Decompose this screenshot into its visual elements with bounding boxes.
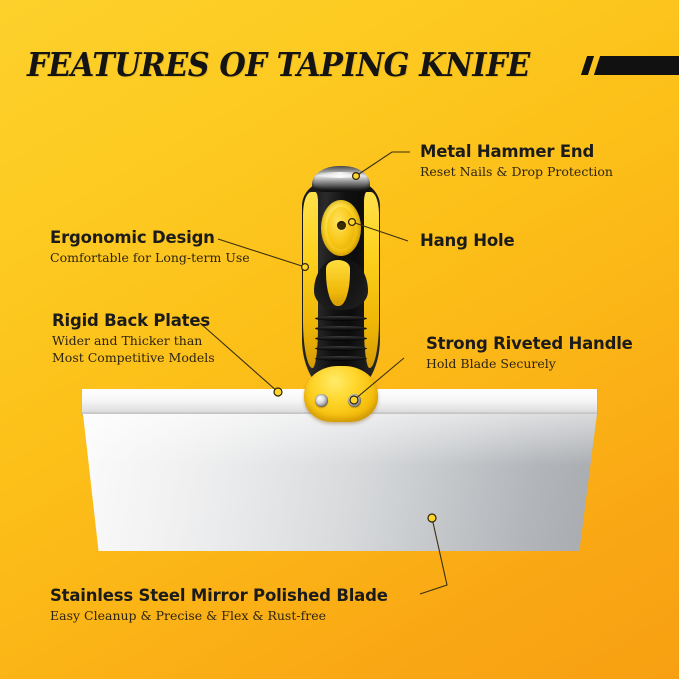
callout-title: Metal Hammer End — [420, 143, 613, 161]
callout-title: Strong Riveted Handle — [426, 335, 633, 353]
metal-hammer-end-cap — [312, 166, 370, 192]
callout-title: Ergonomic Design — [50, 229, 250, 247]
callout-stainless-steel-blade: Stainless Steel Mirror Polished Blade Ea… — [50, 587, 388, 625]
yellow-ferrule — [304, 366, 378, 422]
grip-ridge — [315, 346, 367, 351]
grip-ridge — [315, 326, 367, 331]
callout-subtitle: Comfortable for Long-term Use — [50, 250, 250, 267]
callout-subtitle: Easy Cleanup & Precise & Flex & Rust-fre… — [50, 608, 388, 625]
grip-ridges — [315, 316, 367, 368]
grip-ridge — [315, 336, 367, 341]
hammer-cap-highlight — [318, 172, 362, 178]
grip-ridge — [315, 356, 367, 361]
rivet-right — [348, 394, 361, 407]
callout-title: Stainless Steel Mirror Polished Blade — [50, 587, 388, 605]
stainless-blade — [82, 414, 598, 551]
callout-title: Rigid Back Plates — [52, 312, 215, 330]
handle-group — [296, 166, 386, 411]
callout-ergonomic-design: Ergonomic Design Comfortable for Long-te… — [50, 229, 250, 267]
callout-subtitle: Reset Nails & Drop Protection — [420, 164, 613, 181]
infographic-canvas: FEATURES OF TAPING KNIFE — [0, 0, 679, 679]
callout-strong-riveted-handle: Strong Riveted Handle Hold Blade Securel… — [426, 335, 633, 373]
callout-subtitle-line2: Most Competitive Models — [52, 350, 215, 367]
callout-subtitle: Hold Blade Securely — [426, 356, 633, 373]
hang-hole — [337, 221, 346, 230]
callout-hang-hole: Hang Hole — [420, 232, 514, 250]
grip-ridge — [315, 316, 367, 321]
rivet-left — [315, 394, 328, 407]
callout-rigid-back-plates: Rigid Back Plates Wider and Thicker than… — [52, 312, 215, 366]
callout-metal-hammer-end: Metal Hammer End Reset Nails & Drop Prot… — [420, 143, 613, 181]
callout-subtitle: Wider and Thicker than — [52, 333, 215, 350]
callout-title: Hang Hole — [420, 232, 514, 250]
